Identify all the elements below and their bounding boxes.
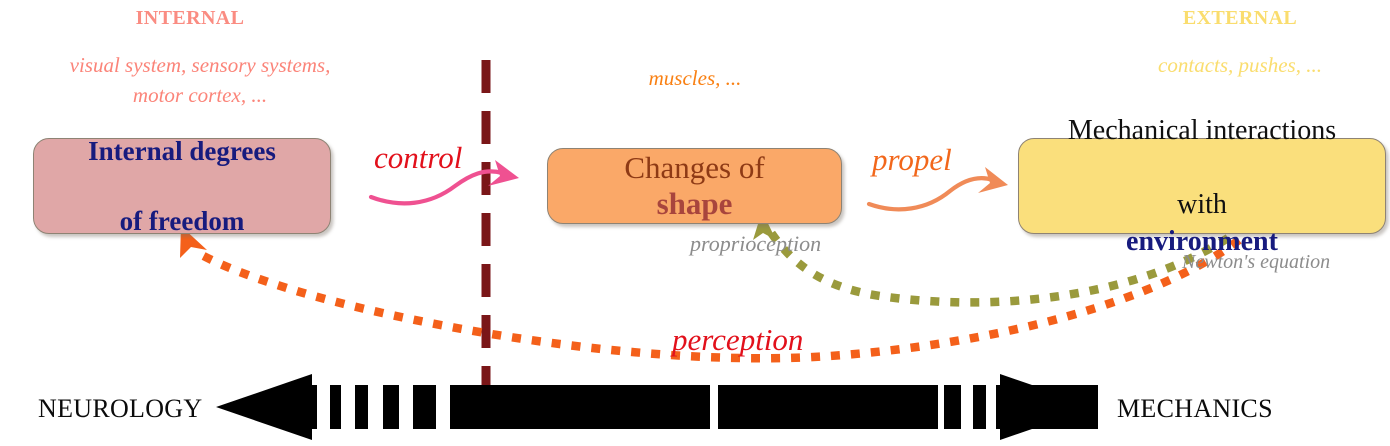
annotation-newtons-equation: Newton's equation: [1182, 251, 1330, 274]
axis-label-mechanics: MECHANICS: [1117, 394, 1273, 424]
internal-subtitle-line-2: motor cortex, ...: [0, 80, 410, 110]
node-mech-label: Mechanical interactionswith environment: [1068, 112, 1336, 260]
node-changes-of-shape[interactable]: Changes of shape: [547, 148, 842, 224]
diagram-canvas: INTERNAL visual system, sensory systems,…: [0, 0, 1390, 446]
node-internal-label: Internal degrees of freedom: [88, 134, 276, 239]
middle-column-subtitle: muscles, ...: [570, 63, 820, 93]
external-column-heading: EXTERNAL: [1140, 7, 1340, 30]
node-shape-label: Changes of shape: [624, 150, 764, 222]
node-mech-line-1: Mechanical interactions: [1068, 112, 1336, 149]
node-internal-line-1: Internal degrees: [88, 134, 276, 169]
node-shape-text-bold: shape: [657, 186, 733, 221]
node-shape-text-plain: Changes of: [624, 150, 764, 186]
edge-label-control: control: [374, 140, 462, 176]
edge-label-proprioception: proprioception: [690, 231, 821, 257]
edge-label-propel: propel: [872, 142, 952, 178]
node-internal-line-2: of freedom: [88, 204, 276, 239]
external-column-subtitle: contacts, pushes, ...: [1095, 50, 1385, 80]
edge-label-perception: perception: [672, 322, 803, 358]
neurology-mechanics-axis-arrow: [216, 374, 1098, 440]
internal-subtitle-line-1: visual system, sensory systems,: [0, 50, 410, 80]
node-internal-degrees-of-freedom[interactable]: Internal degrees of freedom: [33, 138, 331, 234]
internal-column-heading: INTERNAL: [90, 7, 290, 30]
node-mech-line-2-plain: with: [1068, 186, 1336, 223]
axis-label-neurology: NEUROLOGY: [38, 394, 202, 424]
node-mechanical-interactions-with-environment[interactable]: Mechanical interactionswith environment: [1018, 138, 1386, 234]
internal-column-subtitle: visual system, sensory systems, motor co…: [0, 50, 410, 110]
